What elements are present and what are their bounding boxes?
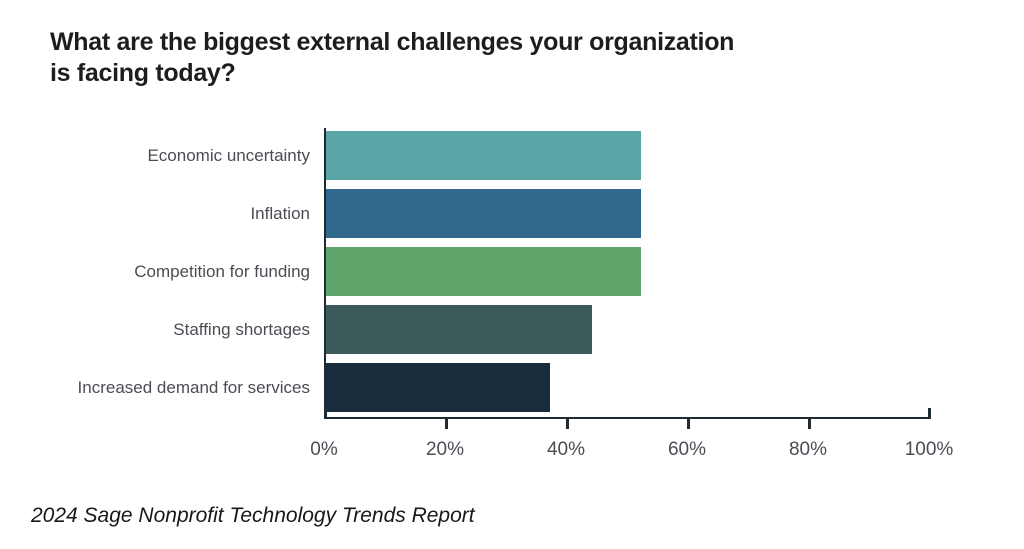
x-axis-tick-label: 0% bbox=[310, 439, 337, 461]
chart-page: What are the biggest external challenges… bbox=[0, 0, 1024, 549]
x-axis-tick-label: 60% bbox=[668, 439, 706, 461]
x-axis-ticks: 0%20%40%60%80%100% bbox=[324, 128, 929, 418]
x-axis-tick-label: 40% bbox=[547, 439, 585, 461]
bar-chart: Economic uncertaintyInflationCompetition… bbox=[0, 118, 1024, 458]
category-label: Increased demand for services bbox=[78, 363, 316, 412]
category-label: Competition for funding bbox=[134, 247, 316, 296]
x-axis-tick-label: 20% bbox=[426, 439, 464, 461]
source-caption: 2024 Sage Nonprofit Technology Trends Re… bbox=[31, 504, 475, 528]
category-label: Economic uncertainty bbox=[147, 131, 316, 180]
x-axis-tick bbox=[445, 418, 448, 429]
category-label: Staffing shortages bbox=[173, 305, 316, 354]
chart-title: What are the biggest external challenges… bbox=[50, 27, 840, 89]
x-axis-tick bbox=[808, 418, 811, 429]
category-label: Inflation bbox=[250, 189, 316, 238]
x-axis-tick-label: 100% bbox=[905, 439, 954, 461]
x-axis-tick-label: 80% bbox=[789, 439, 827, 461]
x-axis-tick bbox=[687, 418, 690, 429]
y-axis-category-labels: Economic uncertaintyInflationCompetition… bbox=[0, 128, 316, 418]
x-axis-tick bbox=[566, 418, 569, 429]
